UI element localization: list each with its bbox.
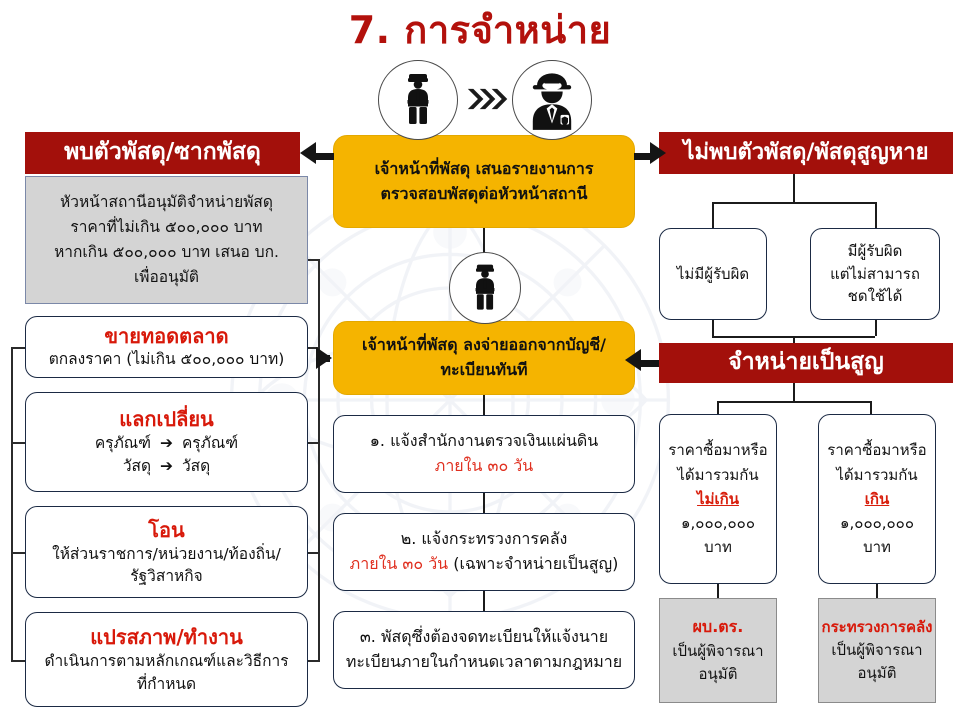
price-over-line-2: ได้มารวมกัน: [836, 463, 917, 487]
right-fault-bus: [712, 202, 875, 204]
center-step1-to-step2: [483, 493, 485, 513]
exchange-pair-1-from: ครุภัณฑ์: [95, 434, 151, 452]
chevron-triple-right-icon: [466, 86, 510, 112]
right-fault-box-no-liable: ไม่มีผู้รับผิด: [659, 228, 767, 320]
price-under-line-2: ได้มารวมกัน: [677, 463, 758, 487]
right-fault-box-liable-cannot-pay: มีผู้รับผิด แต่ไม่สามารถ ชดใช้ได้: [810, 228, 940, 320]
officer-mid-icon: [449, 252, 521, 324]
center-top-line-1: เจ้าหน้าที่พัสดุ เสนอรายงานการ: [375, 157, 594, 182]
authority-finance-line-1: เป็นผู้พิจารณา: [831, 639, 922, 662]
left-riser-mid-stub-c: [308, 552, 320, 554]
center-step-2-line-1: ๒. แจ้งกระทรวงการคลัง: [401, 527, 568, 552]
center-step-1-red: ภายใน ๓๐ วัน: [435, 456, 533, 475]
left-section-header: พบตัวพัสดุ/ซากพัสดุ: [25, 132, 300, 174]
center-top-line-2: ตรวจสอบพัสดุต่อหัวหน้าสถานี: [381, 182, 588, 207]
arrow-stem-left-top: [316, 153, 334, 160]
authority-finance-title: กระทรวงการคลัง: [822, 616, 933, 639]
price-under-amount: ๑,๐๐๐,๐๐๐: [681, 511, 755, 535]
left-method-pair-2: วัสดุ ➔ วัสดุ: [123, 455, 210, 478]
left-method-desc-convert-1: ดำเนินการตามหลักเกณฑ์และวิธีการ: [44, 650, 288, 672]
authority-finance-line-2: อนุมัติ: [858, 662, 897, 685]
left-method-box-convert: แปรสภาพ/ทำงาน ดำเนินการตามหลักเกณฑ์และวิ…: [25, 612, 308, 707]
right-fault-liable-line-2: แต่ไม่สามารถ: [830, 263, 920, 286]
left-approval-line-2: ราคาที่ไม่เกิน ๕๐๐,๐๐๐ บาท: [70, 215, 262, 240]
right-header-drop: [793, 174, 795, 202]
right-price-box-over-limit: ราคาซื้อมาหรือ ได้มารวมกัน เกิน ๑,๐๐๐,๐๐…: [818, 414, 936, 584]
left-method-pair-1: ครุภัณฑ์ ➔ ครุภัณฑ์: [95, 432, 238, 455]
left-riser-top-stub: [308, 259, 320, 261]
right-price-drop: [793, 383, 795, 401]
police-officer-bust-icon: [512, 60, 592, 140]
left-method-desc-transfer-1: ให้ส่วนราชการ/หน่วยงาน/ท้องถิ่น/: [52, 543, 281, 565]
center-mid-to-step1: [483, 395, 485, 415]
arrow-left-sub: [625, 349, 641, 371]
center-step-3-line-2: ทะเบียนภายในกำหนดเวลาตามกฎหมาย: [346, 650, 622, 675]
right-authority-box-finance: กระทรวงการคลัง เป็นผู้พิจารณา อนุมัติ: [818, 598, 936, 703]
authority-police-line-2: อนุมัติ: [699, 663, 738, 686]
right-subsection-header-label: จำหน่ายเป็นสูญ: [728, 350, 884, 375]
center-mid-line-2: ทะเบียนทันที: [440, 358, 527, 383]
center-step-box-2: ๒. แจ้งกระทรวงการคลัง ภายใน ๓๐ วัน (เฉพา…: [333, 513, 635, 591]
exchange-pair-2-from: วัสดุ: [123, 457, 151, 475]
price-over-unit: บาท: [863, 535, 891, 559]
left-approval-line-1: หัวหน้าสถานีอนุมัติจำหน่ายพัสดุ: [60, 190, 273, 215]
price-under-line-1: ราคาซื้อมาหรือ: [668, 438, 767, 462]
left-method-title-auction: ขายทอดตลาด: [104, 324, 228, 349]
right-merge-left-drop: [712, 320, 714, 336]
left-method-desc-auction: ตกลงราคา (ไม่เกิน ๕๐๐,๐๐๐ บาท): [49, 349, 285, 370]
right-authority-box-police: ผบ.ตร. เป็นผู้พิจารณา อนุมัติ: [659, 598, 777, 703]
left-method-title-exchange: แลกเปลี่ยน: [119, 406, 213, 432]
flowchart-canvas: 7. การจำหน่าย: [0, 0, 960, 720]
officer-mid-glyph: [458, 261, 512, 315]
right-merge-right-drop: [875, 320, 877, 336]
exchange-pair-2-to: วัสดุ: [182, 457, 210, 475]
right-fault-drop-left: [712, 202, 714, 228]
left-section-header-label: พบตัวพัสดุ/ซากพัสดุ: [64, 140, 261, 165]
page-title: 7. การจำหน่าย: [0, 8, 960, 54]
center-mid-line-1: เจ้าหน้าที่พัสดุ ลงจ่ายออกจากบัญชี/: [362, 333, 606, 358]
price-under-unit: บาท: [704, 535, 732, 559]
arrow-right-icon-2: ➔: [160, 455, 173, 478]
center-step-box-1: ๑. แจ้งสำนักงานตรวจเงินแผ่นดิน ภายใน ๓๐ …: [333, 415, 635, 493]
left-riser-mid-stub-b: [308, 442, 320, 444]
left-approval-line-4: เพื่ออนุมัติ: [134, 265, 199, 290]
right-subsection-header: จำหน่ายเป็นสูญ: [659, 343, 953, 383]
arrow-stem-left-sub: [641, 360, 659, 367]
price-under-emphasis: ไม่เกิน: [697, 487, 739, 511]
center-step-1-line-2: ภายใน ๓๐ วัน: [435, 454, 533, 479]
center-step-box-3: ๓. พัสดุซึ่งต้องจดทะเบียนให้แจ้งนาย ทะเบ…: [333, 611, 635, 689]
left-approval-line-3: หากเกิน ๕๐๐,๐๐๐ บาท เสนอ บก.: [54, 240, 279, 265]
left-method-box-auction: ขายทอดตลาด ตกลงราคา (ไม่เกิน ๕๐๐,๐๐๐ บาท…: [25, 316, 308, 378]
left-riser-vertical: [318, 259, 320, 661]
price-over-amount: ๑,๐๐๐,๐๐๐: [840, 511, 914, 535]
right-price-box-under-limit: ราคาซื้อมาหรือ ได้มารวมกัน ไม่เกิน ๑,๐๐๐…: [659, 414, 777, 584]
authority-police-line-1: เป็นผู้พิจารณา: [672, 640, 763, 663]
right-section-header: ไม่พบตัวพัสดุ/พัสดุสูญหาย: [659, 132, 953, 174]
right-fault-liable-line-1: มีผู้รับผิด: [848, 240, 903, 263]
left-bracket-vertical: [11, 347, 13, 660]
left-method-box-transfer: โอน ให้ส่วนราชการ/หน่วยงาน/ท้องถิ่น/ รัฐ…: [25, 506, 308, 598]
left-method-title-transfer: โอน: [148, 517, 184, 543]
left-method-desc-convert-2: ที่กำหนด: [137, 673, 196, 695]
right-section-header-label: ไม่พบตัวพัสดุ/พัสดุสูญหาย: [683, 141, 928, 165]
authority-police-title: ผบ.ตร.: [693, 615, 744, 640]
left-approval-box: หัวหน้าสถานีอนุมัติจำหน่ายพัสดุ ราคาที่ไ…: [25, 176, 308, 304]
left-method-desc-transfer-2: รัฐวิสาหกิจ: [130, 565, 202, 587]
arrow-right-mid-in: [316, 347, 332, 369]
price-over-emphasis: เกิน: [865, 487, 889, 511]
center-step-2-black: (เฉพาะจำหน่ายเป็นสูญ): [448, 554, 618, 573]
chevron-triple-right-glyph: [466, 86, 510, 112]
exchange-pair-1-to: ครุภัณฑ์: [182, 434, 238, 452]
police-officer-bust-glyph: [520, 68, 584, 132]
left-method-title-convert: แปรสภาพ/ทำงาน: [90, 624, 243, 650]
center-step-2-red: ภายใน ๓๐ วัน: [350, 554, 448, 573]
center-mid-step-box: เจ้าหน้าที่พัสดุ ลงจ่ายออกจากบัญชี/ ทะเบ…: [333, 321, 635, 395]
officer-full-body-icon: [378, 60, 458, 140]
price-over-line-1: ราคาซื้อมาหรือ: [827, 438, 926, 462]
center-step-1-line-1: ๑. แจ้งสำนักงานตรวจเงินแผ่นดิน: [370, 429, 598, 454]
right-fault-liable-line-3: ชดใช้ได้: [848, 285, 903, 308]
right-fault-no-liable-line-1: ไม่มีผู้รับผิด: [677, 263, 749, 286]
right-price-bus: [717, 401, 870, 403]
arrow-right-top: [650, 142, 666, 164]
arrow-right-icon-1: ➔: [160, 432, 173, 455]
right-fault-drop-right: [875, 202, 877, 228]
center-step-3-line-1: ๓. พัสดุซึ่งต้องจดทะเบียนให้แจ้งนาย: [360, 625, 608, 650]
center-step-2-line-2: ภายใน ๓๐ วัน (เฉพาะจำหน่ายเป็นสูญ): [350, 552, 619, 577]
center-top-step-box: เจ้าหน้าที่พัสดุ เสนอรายงานการ ตรวจสอบพั…: [333, 135, 635, 228]
center-step2-to-step3: [483, 591, 485, 611]
arrow-left-top: [300, 142, 316, 164]
left-method-box-exchange: แลกเปลี่ยน ครุภัณฑ์ ➔ ครุภัณฑ์ วัสดุ ➔ ว…: [25, 392, 308, 492]
officer-full-body-glyph: [388, 70, 448, 130]
